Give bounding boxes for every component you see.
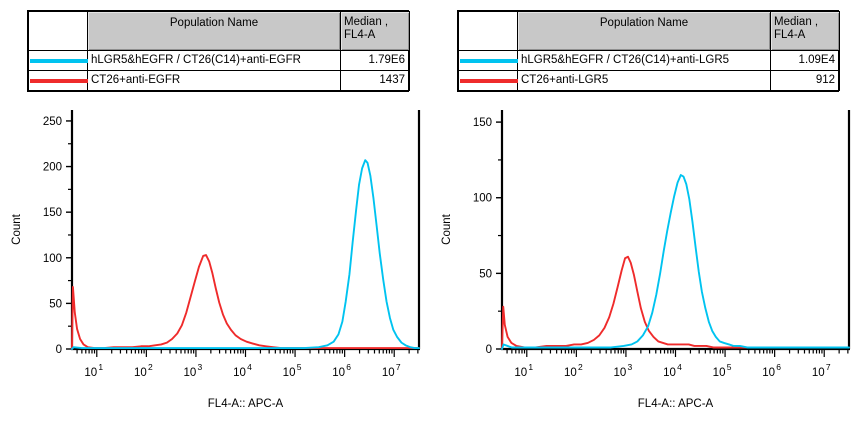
svg-text:3: 3 [628, 362, 633, 372]
legend-header-population-name: Population Name [88, 12, 341, 51]
svg-text:2: 2 [578, 362, 583, 372]
svg-text:10: 10 [663, 367, 676, 379]
svg-text:10: 10 [614, 367, 627, 379]
legend-median-value: 1437 [341, 71, 410, 91]
legend-median-value: 1.09E4 [771, 51, 840, 71]
legend-header-median: Median , FL4-A [771, 12, 840, 51]
svg-text:10: 10 [564, 367, 577, 379]
svg-text:4: 4 [247, 362, 252, 372]
svg-text:0: 0 [56, 344, 62, 356]
legend-header-row: Population Name Median , FL4-A [459, 12, 840, 51]
legend-population-name: CT26+anti-EGFR [88, 71, 341, 91]
svg-text:7: 7 [826, 362, 831, 372]
table-row: hLGR5&hEGFR / CT26(C14)+anti-LGR5 1.09E4 [459, 51, 840, 71]
svg-text:7: 7 [396, 362, 401, 372]
svg-text:Count: Count [441, 213, 453, 244]
panel-egfr: Population Name Median , FL4-A hLGR5&hEG… [0, 0, 430, 426]
legend-table-egfr: Population Name Median , FL4-A hLGR5&hEG… [27, 10, 409, 92]
svg-text:6: 6 [776, 362, 781, 372]
histogram-svg: 050100150101102103104105106107FL4-A:: AP… [430, 104, 860, 414]
svg-text:100: 100 [43, 253, 62, 265]
svg-text:10: 10 [332, 367, 345, 379]
svg-text:50: 50 [49, 298, 62, 310]
legend-median-value: 912 [771, 71, 840, 91]
svg-text:3: 3 [198, 362, 203, 372]
svg-text:200: 200 [43, 162, 62, 174]
table-row: hLGR5&hEGFR / CT26(C14)+anti-EGFR 1.79E6 [29, 51, 410, 71]
legend-swatch-cyan [459, 51, 518, 71]
series-color-line [460, 79, 518, 83]
svg-text:10: 10 [184, 367, 197, 379]
svg-text:100: 100 [473, 193, 492, 205]
legend-header-median: Median , FL4-A [341, 12, 410, 51]
series-color-line [30, 59, 88, 63]
svg-text:10: 10 [713, 367, 726, 379]
legend-swatch-cyan [29, 51, 88, 71]
series-color-line [460, 59, 518, 63]
legend-header-row: Population Name Median , FL4-A [29, 12, 410, 51]
svg-text:Count: Count [11, 213, 23, 244]
table-row: CT26+anti-EGFR 1437 [29, 71, 410, 91]
legend-swatch-red [29, 71, 88, 91]
legend-population-name: CT26+anti-LGR5 [518, 71, 771, 91]
legend-table-lgr5: Population Name Median , FL4-A hLGR5&hEG… [457, 10, 839, 92]
legend-header-population-name: Population Name [518, 12, 771, 51]
table-row: CT26+anti-LGR5 912 [459, 71, 840, 91]
svg-text:FL4-A:: APC-A: FL4-A:: APC-A [208, 398, 284, 410]
svg-text:10: 10 [382, 367, 395, 379]
legend-header-swatch [459, 12, 518, 51]
histogram-plot-lgr5: 050100150101102103104105106107FL4-A:: AP… [430, 104, 860, 414]
svg-text:10: 10 [84, 367, 97, 379]
histogram-plot-egfr: 050100150200250101102103104105106107FL4-… [0, 104, 430, 414]
svg-text:5: 5 [727, 362, 732, 372]
histogram-svg: 050100150200250101102103104105106107FL4-… [0, 104, 430, 414]
legend-swatch-red [459, 71, 518, 91]
svg-text:FL4-A:: APC-A: FL4-A:: APC-A [638, 398, 714, 410]
svg-text:10: 10 [762, 367, 775, 379]
svg-text:1: 1 [528, 362, 533, 372]
legend-header-swatch [29, 12, 88, 51]
svg-text:50: 50 [479, 268, 492, 280]
series-color-line [30, 79, 88, 83]
svg-text:10: 10 [233, 367, 246, 379]
svg-text:0: 0 [486, 344, 492, 356]
svg-text:10: 10 [812, 367, 825, 379]
legend-median-value: 1.79E6 [341, 51, 410, 71]
svg-text:150: 150 [43, 207, 62, 219]
svg-text:150: 150 [473, 117, 492, 129]
svg-text:5: 5 [297, 362, 302, 372]
svg-text:250: 250 [43, 116, 62, 128]
svg-text:1: 1 [98, 362, 103, 372]
svg-text:6: 6 [346, 362, 351, 372]
svg-text:10: 10 [134, 367, 147, 379]
legend-population-name: hLGR5&hEGFR / CT26(C14)+anti-EGFR [88, 51, 341, 71]
legend-population-name: hLGR5&hEGFR / CT26(C14)+anti-LGR5 [518, 51, 771, 71]
svg-text:4: 4 [677, 362, 682, 372]
panel-lgr5: Population Name Median , FL4-A hLGR5&hEG… [430, 0, 860, 426]
svg-text:2: 2 [148, 362, 153, 372]
svg-text:10: 10 [283, 367, 296, 379]
svg-text:10: 10 [514, 367, 527, 379]
